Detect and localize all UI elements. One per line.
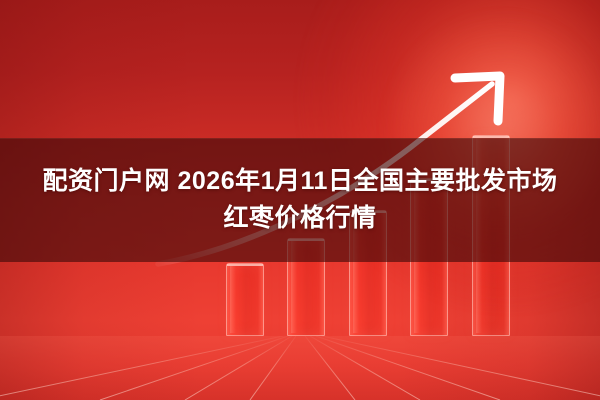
title-line-1: 配资门户网 2026年1月11日全国主要批发市场 <box>43 166 558 197</box>
page-title: 配资门户网 2026年1月11日全国主要批发市场 红枣价格行情 <box>0 138 600 262</box>
banner-image: 配资门户网 2026年1月11日全国主要批发市场 红枣价格行情 <box>0 0 600 400</box>
title-line-2: 红枣价格行情 <box>223 203 376 234</box>
